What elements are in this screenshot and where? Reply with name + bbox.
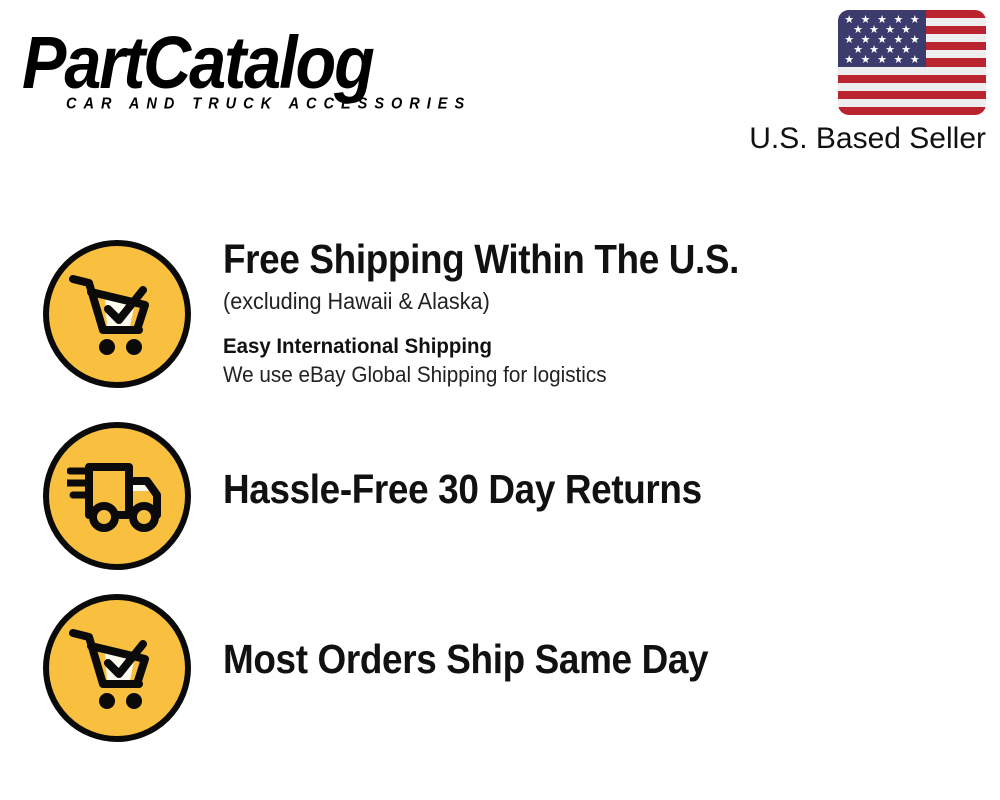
flag-star: ★ [844,55,854,66]
us-flag-icon: ★ ★ ★ ★ ★ ★ ★ ★ ★ ★ ★ ★ ★ ★ [838,10,986,115]
feature-title: Hassle-Free 30 Day Returns [223,466,922,512]
flag-stripe [838,75,986,83]
brand-tagline: CAR AND TRUCK ACCESSORIES [66,96,471,113]
seller-label: U.S. Based Seller [726,122,986,156]
flag-star: ★ [877,55,887,66]
delivery-truck-icon [43,422,191,570]
shopping-cart-check-icon [43,240,191,388]
flag-canton: ★ ★ ★ ★ ★ ★ ★ ★ ★ ★ ★ ★ ★ ★ [838,10,926,67]
feature-row: Most Orders Ship Same Day [0,592,1000,757]
brand-wordmark: PartCatalog [22,24,511,101]
flag-stripe [838,67,986,75]
shopping-cart-check-icon [43,594,191,742]
feature-list: Free Shipping Within The U.S. (excluding… [0,240,1000,757]
feature-text: Hassle-Free 30 Day Returns [223,466,1000,512]
page-header: PartCatalog CAR AND TRUCK ACCESSORIES [0,0,1000,170]
flag-star: ★ [910,55,920,66]
us-based-seller-badge: ★ ★ ★ ★ ★ ★ ★ ★ ★ ★ ★ ★ ★ ★ [726,10,986,156]
feature-subtitle: (excluding Hawaii & Alaska) [223,287,953,316]
flag-stripe [838,91,986,99]
feature-row: Hassle-Free 30 Day Returns [0,420,1000,592]
flag-stripe [838,83,986,91]
feature-subnote: We use eBay Global Shipping for logistic… [223,361,953,389]
flag-stripe [838,99,986,107]
feature-subheading: Easy International Shipping [223,333,961,360]
feature-text: Free Shipping Within The U.S. (excluding… [223,236,1000,389]
flag-stripe [838,107,986,115]
feature-row: Free Shipping Within The U.S. (excluding… [0,240,1000,420]
feature-title: Most Orders Ship Same Day [223,636,922,682]
flag-star-row: ★ ★ ★ ★ ★ [838,55,926,66]
feature-title: Free Shipping Within The U.S. [223,236,922,282]
flag-star: ★ [861,55,871,66]
brand-logo[interactable]: PartCatalog CAR AND TRUCK ACCESSORIES [22,24,492,114]
flag-star: ★ [893,55,903,66]
feature-text: Most Orders Ship Same Day [223,636,1000,682]
